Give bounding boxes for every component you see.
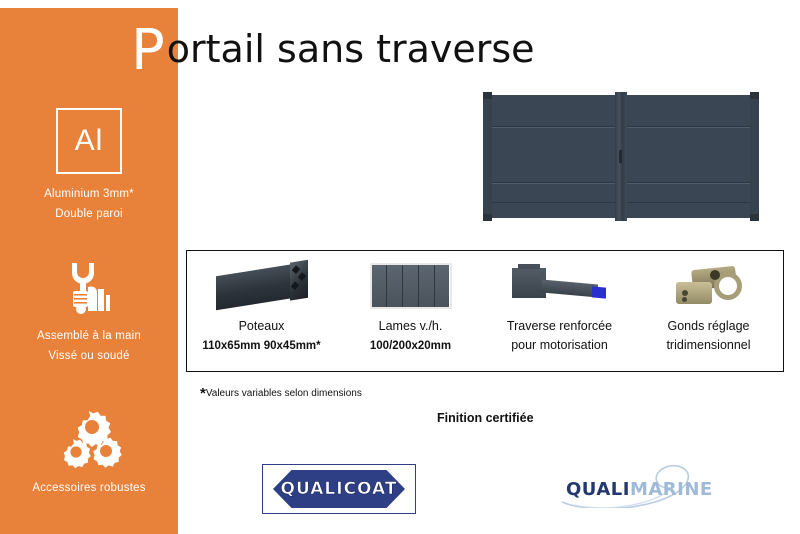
gate-foot-left [483, 214, 492, 221]
feature-traverse: Traverse renforcée pour motorisation [485, 251, 634, 371]
feature-gonds-spec: tridimensionnel [666, 338, 750, 353]
footnote-star: * [200, 385, 206, 402]
page-title-rest: ortail sans traverse [167, 27, 535, 71]
footnote: *Valeurs variables selon dimensions [200, 383, 362, 400]
sidebar-item-accessoires-line1: Accessoires robustes [0, 478, 178, 498]
qualimarine-label: QUALIMARINE [566, 479, 713, 500]
gate-leaf-right [625, 95, 753, 218]
qualimarine-label-a: QUALI [566, 479, 630, 500]
slide-canvas: Al Aluminium 3mm* Double paroi [0, 0, 800, 534]
feature-traverse-label: Traverse renforcée [507, 319, 612, 334]
sidebar-item-assemblage-line2: Vissé ou soudé [0, 346, 178, 366]
feature-traverse-spec: pour motorisation [511, 338, 608, 353]
feature-lames-label: Lames v./h. [379, 319, 443, 334]
certification-heading: Finition certifiée [437, 411, 534, 425]
gate-cap-left [483, 92, 492, 99]
al-symbol: Al [75, 124, 104, 158]
gate-post-right [750, 92, 759, 221]
features-box: Poteaux 110x65mm 90x45mm* Lames v./h. 10… [186, 250, 784, 372]
gate-post-left [483, 92, 492, 221]
gate-foot-right [750, 214, 759, 221]
footnote-text: Valeurs variables selon dimensions [206, 388, 362, 399]
page-title-initial: P [131, 18, 165, 83]
gate-handle [619, 150, 622, 163]
qualimarine-label-b: MARINE [630, 479, 713, 500]
gears-icon [0, 408, 178, 470]
qualicoat-label: QUALICOAT [281, 479, 398, 499]
lames-panel-icon [370, 257, 452, 315]
orange-sidebar: Al Aluminium 3mm* Double paroi [0, 8, 178, 534]
gate-leaf-left [489, 95, 617, 218]
feature-lames-spec: 100/200x20mm [370, 339, 451, 353]
wrench-hand-icon [0, 256, 178, 318]
sidebar-item-accessoires: Accessoires robustes [0, 408, 178, 498]
feature-poteaux-label: Poteaux [239, 319, 285, 334]
feature-gonds: Gonds réglage tridimensionnel [634, 251, 783, 371]
gate-illustration [483, 92, 759, 221]
feature-poteaux-spec: 110x65mm 90x45mm* [202, 339, 320, 353]
sidebar-item-aluminium-line1: Aluminium 3mm* [0, 184, 178, 204]
gate-cap-right [750, 92, 759, 99]
poteau-profile-icon [216, 257, 308, 315]
qualicoat-logo: QUALICOAT [262, 464, 416, 514]
traverse-motorisation-icon [510, 257, 610, 315]
sidebar-item-aluminium-line2: Double paroi [0, 204, 178, 224]
sidebar-item-assemblage-line1: Assemblé à la main [0, 326, 178, 346]
feature-poteaux: Poteaux 110x65mm 90x45mm* [187, 251, 336, 371]
aluminium-al-icon: Al [56, 108, 122, 174]
sidebar-item-aluminium: Al Aluminium 3mm* Double paroi [0, 108, 178, 224]
qualimarine-logo: QUALIMARINE [560, 470, 710, 506]
sidebar-item-assemblage: Assemblé à la main Vissé ou soudé [0, 256, 178, 366]
gond-hinge-icon [674, 257, 744, 315]
feature-lames: Lames v./h. 100/200x20mm [336, 251, 485, 371]
feature-gonds-label: Gonds réglage [667, 319, 749, 334]
page-title: Portail sans traverse [133, 27, 535, 71]
